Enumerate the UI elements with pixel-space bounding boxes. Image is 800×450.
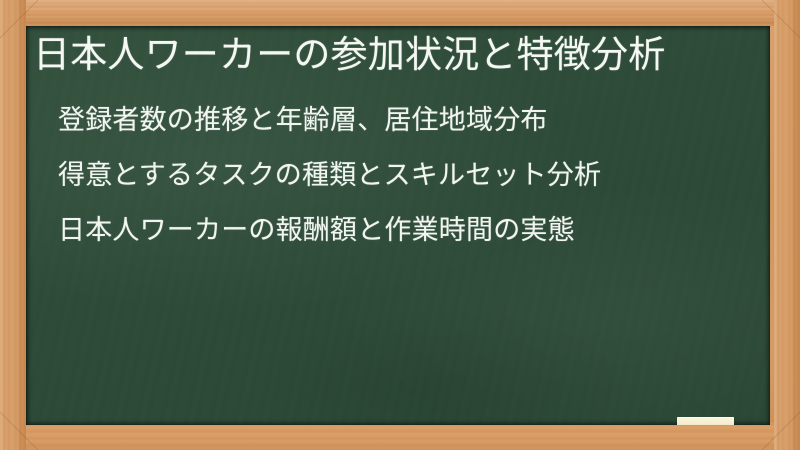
chalk-stick bbox=[677, 417, 734, 425]
bullet-item-2: 得意とするタスクの種類とスキルセット分析 bbox=[58, 159, 748, 191]
chalkboard-content: 日本人ワーカーの参加状況と特徴分析 登録者数の推移と年齢層、居住地域分布 得意と… bbox=[26, 26, 770, 425]
frame-rail-right bbox=[774, 0, 800, 450]
frame-ledge-bottom bbox=[0, 423, 800, 450]
chalkboard-surface: 日本人ワーカーの参加状況と特徴分析 登録者数の推移と年齢層、居住地域分布 得意と… bbox=[26, 26, 770, 425]
slide-bullet-list: 登録者数の推移と年齢層、居住地域分布 得意とするタスクの種類とスキルセット分析 … bbox=[58, 104, 748, 246]
bullet-item-3: 日本人ワーカーの報酬額と作業時間の実態 bbox=[58, 214, 748, 246]
frame-rail-left bbox=[0, 0, 26, 450]
bullet-item-1: 登録者数の推移と年齢層、居住地域分布 bbox=[58, 104, 748, 136]
chalkboard-slide: 日本人ワーカーの参加状況と特徴分析 登録者数の推移と年齢層、居住地域分布 得意と… bbox=[0, 0, 800, 450]
frame-rail-top bbox=[0, 0, 800, 26]
slide-title: 日本人ワーカーの参加状況と特徴分析 bbox=[33, 32, 763, 78]
